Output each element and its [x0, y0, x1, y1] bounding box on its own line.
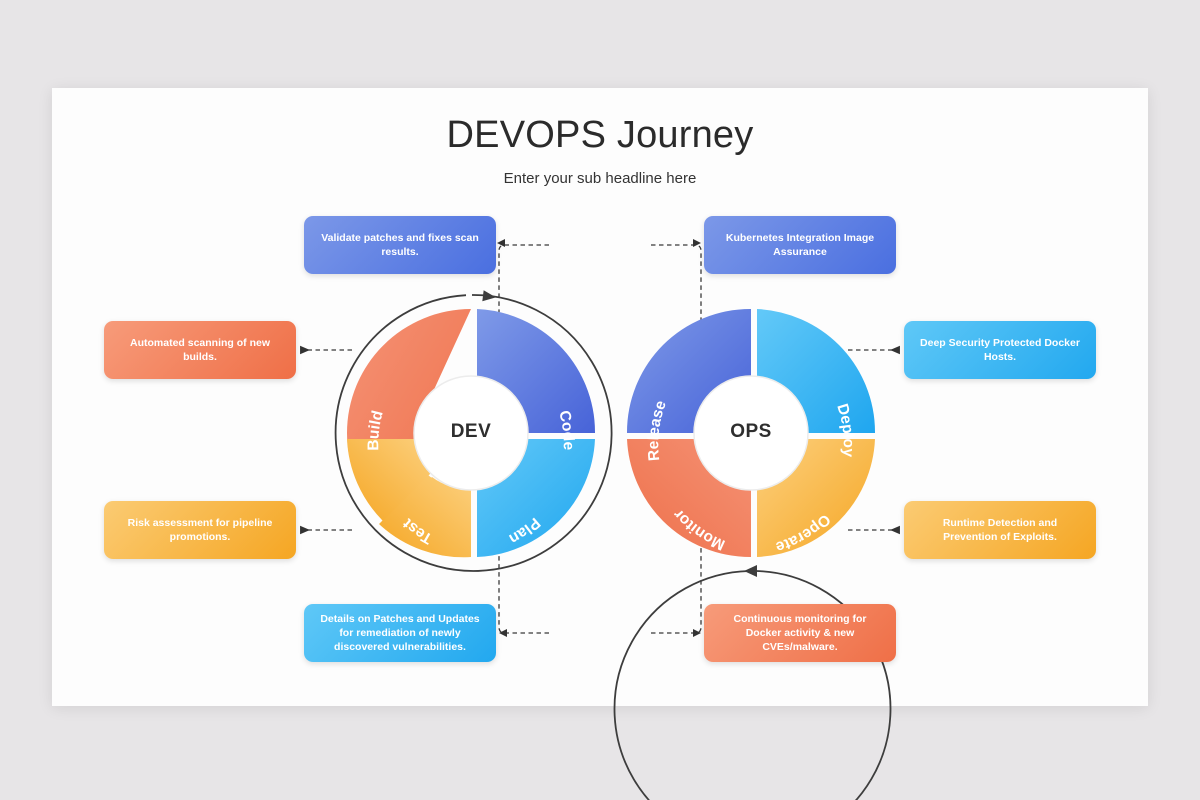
- page-title: DEVOPS Journey: [52, 114, 1148, 157]
- callout-automated-scanning[interactable]: Automated scanning of new builds.: [104, 321, 296, 379]
- callout-risk-assessment[interactable]: Risk assessment for pipeline promotions.: [104, 501, 296, 559]
- arrowhead-patch-details: [499, 629, 507, 637]
- ops-wheel: Release Deploy Operate Monitor OPS: [606, 288, 896, 578]
- arrowhead-validate-patches: [497, 239, 505, 247]
- callout-validate-patches[interactable]: Validate patches and fixes scan results.: [304, 216, 496, 274]
- callout-continuous-monitoring[interactable]: Continuous monitoring for Docker activit…: [704, 604, 896, 662]
- arrowhead-kubernetes: [693, 239, 701, 247]
- callout-kubernetes-integration[interactable]: Kubernetes Integration Image Assurance: [704, 216, 896, 274]
- page-subtitle: Enter your sub headline here: [52, 170, 1148, 187]
- ops-rotation-arc: [615, 565, 891, 800]
- dev-hub-label: DEV: [326, 421, 616, 443]
- slide-canvas: DEVOPS Journey Enter your sub headline h…: [52, 88, 1148, 706]
- callout-patch-details[interactable]: Details on Patches and Updates for remed…: [304, 604, 496, 662]
- dev-wheel: Build Code Plan Test DEV: [326, 288, 616, 578]
- ops-hub-label: OPS: [606, 421, 896, 443]
- callout-runtime-detection[interactable]: Runtime Detection and Prevention of Expl…: [904, 501, 1096, 559]
- arrowhead-continuous-monitoring: [693, 629, 701, 637]
- callout-deep-security[interactable]: Deep Security Protected Docker Hosts.: [904, 321, 1096, 379]
